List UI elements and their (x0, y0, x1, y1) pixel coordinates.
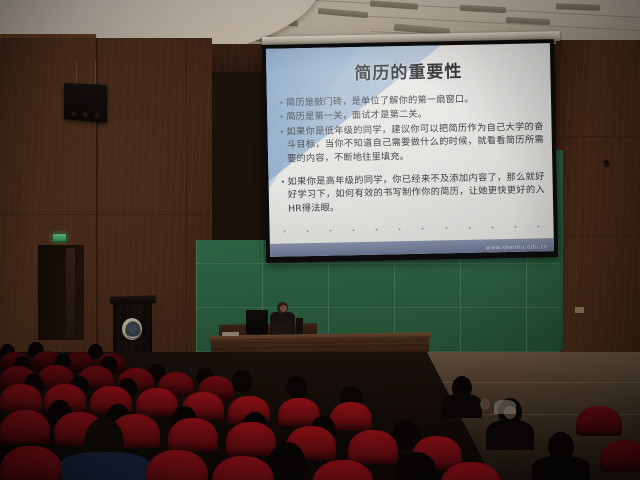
audience-shoulders (442, 394, 482, 418)
ceiling-vent (460, 5, 506, 13)
doorway-light-gap (66, 248, 75, 338)
right-wood-wall (556, 40, 640, 370)
auditorium-seat (330, 402, 372, 430)
projection-screen: 简历的重要性 • 简历是敲门砖，是单位了解你的第一扇窗口。 • 简历是第一关，面… (262, 39, 558, 263)
auditorium-photo: 简历的重要性 • 简历是敲门砖，是单位了解你的第一扇窗口。 • 简历是第一关，面… (0, 0, 640, 480)
audience-shoulders (60, 452, 150, 480)
auditorium-seat (348, 430, 398, 464)
slide-footer-url: www.shenhu.edu.cn (486, 244, 548, 251)
lectern-top (110, 295, 156, 305)
paper-sheet (222, 332, 239, 336)
wall-speaker-icon (64, 83, 107, 123)
bullet-text: 如果你是低年级的同学，建议你可以把简历作为自己大学的奋斗目标，当你不知道自己需要… (286, 120, 544, 165)
university-emblem-icon (122, 318, 142, 340)
slide-title: 简历的重要性 (266, 55, 550, 86)
presentation-slide: 简历的重要性 • 简历是敲门砖，是单位了解你的第一扇窗口。 • 简历是第一关，面… (266, 43, 554, 257)
auditorium-seat (136, 388, 178, 416)
slide-footer-bar: www.shenhu.edu.cn (270, 238, 554, 257)
audience-shoulders (532, 456, 590, 480)
audience-member (232, 370, 252, 392)
auditorium-seat (0, 410, 50, 444)
auditorium-seat (600, 440, 640, 472)
wall-sign (575, 307, 584, 313)
exit-sign-icon (52, 233, 67, 242)
audience-shoulders (486, 420, 534, 450)
audience-member (286, 376, 307, 398)
slide-body: • 简历是敲门砖，是单位了解你的第一扇窗口。 • 简历是第一关，面试才是第二关。… (279, 91, 545, 217)
auditorium-seat (168, 418, 218, 452)
presenter-monitor (246, 310, 268, 334)
audience-face (480, 398, 490, 410)
presenter-face (280, 305, 287, 312)
auditorium-seat (576, 406, 622, 436)
side-doorway (38, 245, 84, 340)
audience-member (268, 442, 306, 480)
bullet-text: 如果你是高年级的同学，你已经来不及添加内容了，那么就好好学习下，如何有效的书写制… (287, 170, 545, 215)
ceiling-vent (370, 0, 418, 9)
slide-bullet: • 如果你是低年级的同学，建议你可以把简历作为自己大学的奋斗目标，当你不知道自己… (279, 120, 544, 166)
auditorium-seat (226, 422, 276, 456)
ceiling-vent (556, 3, 600, 11)
slide-divider-dots (284, 225, 540, 232)
audience-shoulders (494, 400, 516, 414)
slide-bullet: • 如果你是高年级的同学，你已经来不及添加内容了，那么就好好学习下，如何有效的书… (280, 170, 545, 216)
audience-member (396, 452, 436, 480)
auditorium-seat (0, 384, 42, 412)
ceiling-vent (318, 8, 368, 18)
